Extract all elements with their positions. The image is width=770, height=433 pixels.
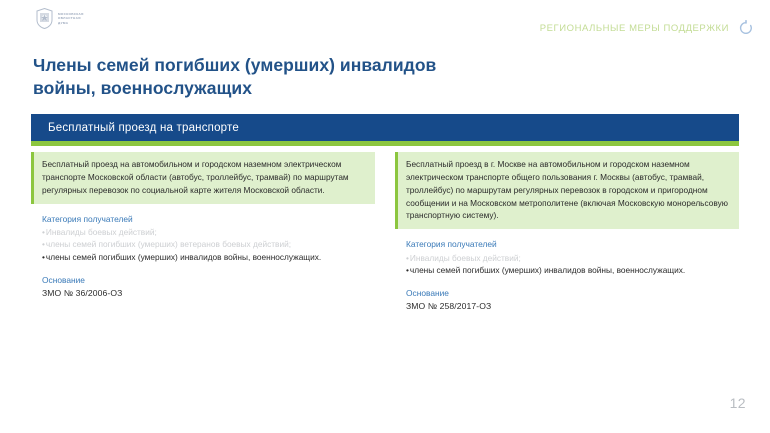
legal-basis-section: Основание ЗМО № 36/2006-ОЗ xyxy=(31,274,375,300)
cards-container: Бесплатный проезд на автомобильном и гор… xyxy=(31,152,739,313)
list-item-label: Инвалиды боевых действий; xyxy=(46,226,157,238)
list-item: • члены семей погибших (умерших) инвалид… xyxy=(42,251,375,263)
logo-text: Московская областная дума xyxy=(58,12,84,25)
recipients-heading: Категория получателей xyxy=(406,238,739,251)
bullet-dot-icon: • xyxy=(42,238,45,250)
legal-basis-heading: Основание xyxy=(42,274,375,287)
recipients-heading: Категория получателей xyxy=(42,213,375,226)
organization-logo: Московская областная дума xyxy=(36,8,84,29)
list-item-label: Инвалиды боевых действий; xyxy=(410,252,521,264)
page-title: Члены семей погибших (умерших) инвалидов… xyxy=(33,54,493,99)
list-item: • члены семей погибших (умерших) ветеран… xyxy=(42,238,375,250)
header-right-group: РЕГИОНАЛЬНЫЕ МЕРЫ ПОДДЕРЖКИ xyxy=(540,20,754,36)
list-item-label: члены семей погибших (умерших) инвалидов… xyxy=(46,251,321,263)
recipients-list: • Инвалиды боевых действий; • члены семе… xyxy=(42,226,375,263)
benefit-description-box: Бесплатный проезд на автомобильном и гор… xyxy=(31,152,375,204)
list-item-label: члены семей погибших (умерших) ветеранов… xyxy=(46,238,291,250)
page-number: 12 xyxy=(730,395,746,411)
legal-basis-value: ЗМО № 258/2017-ОЗ xyxy=(406,300,739,313)
section-banner-label: Бесплатный проезд на транспорте xyxy=(48,122,239,134)
section-banner: Бесплатный проезд на транспорте xyxy=(31,114,739,141)
bullet-dot-icon: • xyxy=(406,252,409,264)
list-item: • члены семей погибших (умерших) инвалид… xyxy=(406,264,739,276)
list-item: • Инвалиды боевых действий; xyxy=(42,226,375,238)
legal-basis-section: Основание ЗМО № 258/2017-ОЗ xyxy=(395,287,739,313)
bullet-dot-icon: • xyxy=(406,264,409,276)
slide-root: Московская областная дума РЕГИОНАЛЬНЫЕ М… xyxy=(0,0,770,433)
bullet-dot-icon: • xyxy=(42,251,45,263)
list-item: • Инвалиды боевых действий; xyxy=(406,252,739,264)
benefit-description-box: Бесплатный проезд в г. Москве на автомоб… xyxy=(395,152,739,229)
bullet-dot-icon: • xyxy=(42,226,45,238)
section-banner-underline xyxy=(31,141,739,146)
legal-basis-heading: Основание xyxy=(406,287,739,300)
recipients-list: • Инвалиды боевых действий; • члены семе… xyxy=(406,252,739,277)
coat-of-arms-emblem xyxy=(36,8,53,29)
list-item-label: члены семей погибших (умерших) инвалидов… xyxy=(410,264,685,276)
header-tagline: РЕГИОНАЛЬНЫЕ МЕРЫ ПОДДЕРЖКИ xyxy=(540,23,729,34)
benefit-description-text: Бесплатный проезд на автомобильном и гор… xyxy=(42,158,367,197)
benefit-card: Бесплатный проезд на автомобильном и гор… xyxy=(31,152,375,299)
benefit-description-text: Бесплатный проезд в г. Москве на автомоб… xyxy=(406,158,731,222)
legal-basis-value: ЗМО № 36/2006-ОЗ xyxy=(42,287,375,300)
recipients-section: Категория получателей • Инвалиды боевых … xyxy=(31,213,375,263)
circular-arrow-icon[interactable] xyxy=(738,20,754,36)
recipients-section: Категория получателей • Инвалиды боевых … xyxy=(395,238,739,276)
benefit-card: Бесплатный проезд в г. Москве на автомоб… xyxy=(395,152,739,313)
